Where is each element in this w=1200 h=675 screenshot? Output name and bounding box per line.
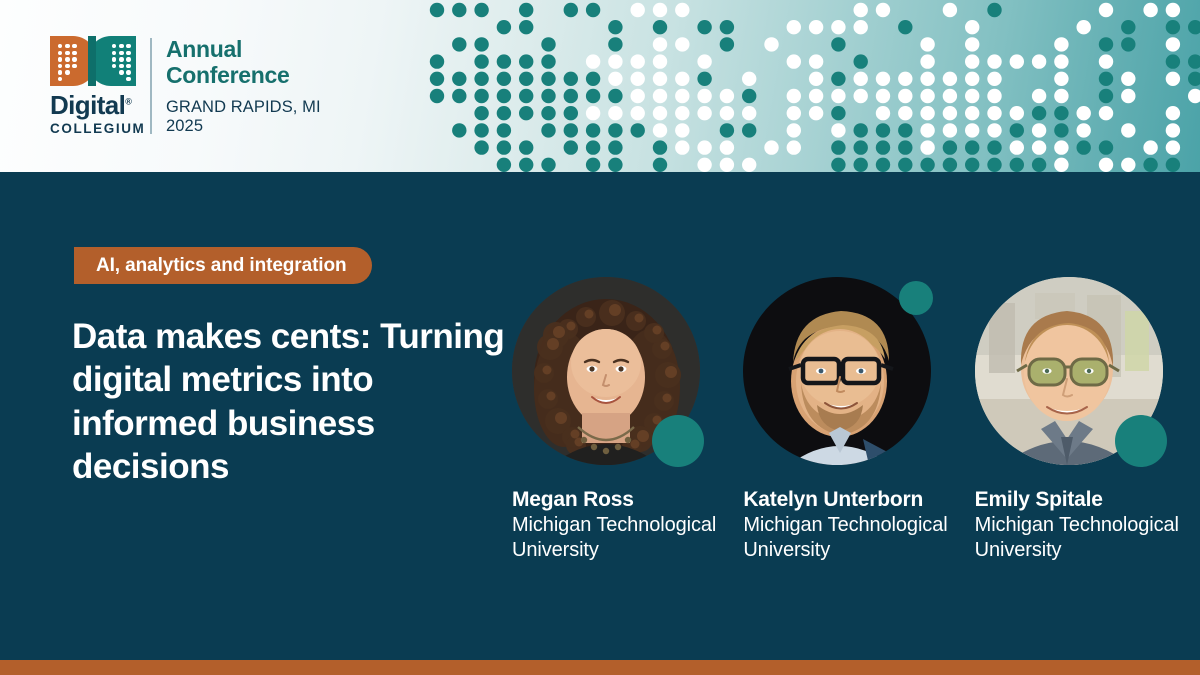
decorative-dot — [920, 123, 934, 137]
decorative-dot — [497, 106, 511, 120]
decorative-dot — [631, 106, 645, 120]
decorative-dot — [452, 123, 466, 137]
decorative-dot — [1010, 54, 1024, 68]
decorative-dot — [497, 140, 511, 154]
decorative-dot — [519, 140, 533, 154]
digital-collegium-logo-mark-icon — [50, 36, 136, 86]
accent-circle-icon — [1115, 415, 1167, 467]
speaker-organization: Michigan Technological University — [512, 513, 729, 562]
decorative-dot — [854, 20, 868, 34]
decorative-dot — [541, 72, 555, 86]
conference-title: Annual Conference — [166, 37, 321, 89]
decorative-dot — [1032, 89, 1046, 103]
decorative-dot — [541, 158, 555, 172]
decorative-dot — [720, 89, 734, 103]
speaker-card: Katelyn UnterbornMichigan Technological … — [743, 277, 960, 647]
decorative-dot — [854, 89, 868, 103]
decorative-dot — [831, 123, 845, 137]
decorative-dot — [1010, 140, 1024, 154]
accent-circle-icon — [899, 281, 933, 315]
decorative-dot — [452, 89, 466, 103]
decorative-dot — [631, 3, 645, 17]
decorative-dot — [1010, 158, 1024, 172]
logo-dot — [58, 44, 62, 48]
decorative-dot — [1032, 158, 1046, 172]
decorative-dot — [497, 123, 511, 137]
conference-info: Annual Conference GRAND RAPIDS, MI 2025 — [166, 36, 321, 136]
logo-dot — [126, 70, 130, 74]
speaker-card: Megan RossMichigan Technological Univers… — [512, 277, 729, 647]
decorative-dot — [631, 72, 645, 86]
decorative-dot — [497, 72, 511, 86]
decorative-dot — [697, 72, 711, 86]
footer-accent-bar — [0, 660, 1200, 675]
decorative-dot — [519, 89, 533, 103]
logo-dot — [119, 51, 123, 55]
decorative-dot — [943, 158, 957, 172]
decorative-dot — [898, 140, 912, 154]
accent-circle-icon — [652, 415, 704, 467]
decorative-dot — [519, 72, 533, 86]
decorative-dot — [876, 106, 890, 120]
logo-dot — [58, 64, 62, 68]
decorative-dot — [653, 37, 667, 51]
decorative-dot — [831, 37, 845, 51]
decorative-dot — [920, 158, 934, 172]
decorative-dot — [474, 89, 488, 103]
decorative-dot — [742, 72, 756, 86]
decorative-dot — [1099, 140, 1113, 154]
decorative-dot — [831, 89, 845, 103]
decorative-dot — [608, 20, 622, 34]
decorative-dot — [519, 106, 533, 120]
logo-dot — [58, 51, 62, 55]
decorative-dot — [987, 54, 1001, 68]
decorative-dot — [1166, 3, 1180, 17]
decorative-dot — [608, 89, 622, 103]
decorative-dot — [430, 89, 444, 103]
conference-title-line-1: Annual — [166, 37, 321, 63]
logo-dot — [65, 64, 69, 68]
decorative-dot — [720, 20, 734, 34]
decorative-dot — [943, 140, 957, 154]
speaker-card: Emily SpitaleMichigan Technological Univ… — [975, 277, 1192, 647]
logo-dot — [72, 51, 76, 55]
decorative-dot — [608, 158, 622, 172]
decorative-dot — [564, 3, 578, 17]
logo-dot — [65, 51, 69, 55]
decorative-dot — [541, 89, 555, 103]
decorative-dot — [720, 37, 734, 51]
decorative-dot — [898, 106, 912, 120]
brand-logo-block: Digital® COLLEGIUM Annual Conference GRA… — [50, 36, 321, 136]
decorative-dot — [764, 140, 778, 154]
logo-dot — [112, 51, 116, 55]
decorative-dot — [653, 20, 667, 34]
decorative-dot — [608, 123, 622, 137]
decorative-dot — [787, 106, 801, 120]
logo-dot — [65, 70, 69, 74]
decorative-dot — [943, 72, 957, 86]
logo-wordmark: Digital® — [50, 92, 136, 118]
decorative-dot — [987, 72, 1001, 86]
decorative-dot — [586, 54, 600, 68]
decorative-dot — [1188, 89, 1200, 103]
decorative-dot — [1166, 140, 1180, 154]
decorative-dot — [675, 123, 689, 137]
logo-dot — [119, 64, 123, 68]
decorative-dot — [898, 72, 912, 86]
decorative-dot — [943, 89, 957, 103]
decorative-dot — [1143, 158, 1157, 172]
decorative-dot — [586, 106, 600, 120]
decorative-dot — [564, 89, 578, 103]
logo-left-column: Digital® COLLEGIUM — [50, 36, 136, 136]
decorative-dot — [1188, 20, 1200, 34]
decorative-dot — [720, 140, 734, 154]
decorative-dot — [831, 20, 845, 34]
decorative-dot — [631, 123, 645, 137]
speaker-name: Megan Ross — [512, 487, 729, 512]
decorative-dot — [675, 3, 689, 17]
decorative-dot — [1077, 140, 1091, 154]
decorative-dot — [631, 89, 645, 103]
decorative-dot — [653, 54, 667, 68]
decorative-dot — [987, 140, 1001, 154]
decorative-dot — [430, 72, 444, 86]
decorative-dot — [1188, 54, 1200, 68]
decorative-dot — [920, 72, 934, 86]
session-title: Data makes cents: Turning digital metric… — [72, 315, 512, 489]
decorative-dot — [608, 72, 622, 86]
logo-dot — [119, 70, 123, 74]
decorative-dot — [1143, 140, 1157, 154]
logo-dot — [119, 44, 123, 48]
decorative-dot — [965, 158, 979, 172]
decorative-dot — [965, 89, 979, 103]
decorative-dot — [831, 158, 845, 172]
logo-dot — [119, 57, 123, 61]
registered-trademark-icon: ® — [125, 96, 131, 106]
logo-divider — [150, 38, 152, 134]
decorative-dot — [987, 158, 1001, 172]
decorative-dot — [519, 54, 533, 68]
conference-location-line-2: 2025 — [166, 117, 321, 136]
decorative-dot — [1032, 140, 1046, 154]
speaker-photo-wrapper — [975, 277, 1163, 465]
decorative-dot — [965, 20, 979, 34]
decorative-dot — [675, 37, 689, 51]
decorative-dot — [1032, 54, 1046, 68]
decorative-dot — [809, 54, 823, 68]
decorative-dot — [854, 140, 868, 154]
decorative-dot — [1099, 3, 1113, 17]
decorative-dot — [519, 158, 533, 172]
decorative-dot — [631, 54, 645, 68]
decorative-dot — [720, 106, 734, 120]
decorative-dot — [675, 72, 689, 86]
logo-dot — [126, 44, 130, 48]
decorative-dot — [1054, 140, 1068, 154]
decorative-dot — [787, 89, 801, 103]
decorative-dot — [1054, 123, 1068, 137]
decorative-dot — [1010, 123, 1024, 137]
decorative-dot — [809, 20, 823, 34]
decorative-dot — [1099, 106, 1113, 120]
decorative-dot — [474, 106, 488, 120]
decorative-dot — [809, 89, 823, 103]
decorative-dot — [452, 72, 466, 86]
decorative-dot — [452, 37, 466, 51]
decorative-dot — [497, 89, 511, 103]
decorative-dot — [809, 72, 823, 86]
decorative-dot — [1166, 54, 1180, 68]
logo-dot — [72, 64, 76, 68]
decorative-dot — [742, 158, 756, 172]
decorative-dot — [675, 106, 689, 120]
speaker-name: Emily Spitale — [975, 487, 1192, 512]
logo-subtext: COLLEGIUM — [50, 122, 136, 136]
logo-dot — [112, 64, 116, 68]
decorative-dot — [787, 54, 801, 68]
decorative-dot — [1121, 89, 1135, 103]
decorative-dot — [675, 140, 689, 154]
decorative-dot — [653, 72, 667, 86]
decorative-dot — [474, 72, 488, 86]
conference-location-line-1: GRAND RAPIDS, MI — [166, 98, 321, 117]
logo-dot — [72, 57, 76, 61]
decorative-dot — [497, 20, 511, 34]
decorative-dot — [965, 106, 979, 120]
decorative-dot — [876, 72, 890, 86]
decorative-dot — [876, 89, 890, 103]
decorative-dot — [564, 140, 578, 154]
decorative-dot — [564, 106, 578, 120]
logo-dot — [58, 57, 62, 61]
decorative-dot — [831, 72, 845, 86]
decorative-dot — [653, 106, 667, 120]
decorative-dot — [1121, 20, 1135, 34]
decorative-dot — [854, 72, 868, 86]
decorative-dot — [876, 140, 890, 154]
speaker-list: Megan RossMichigan Technological Univers… — [512, 277, 1192, 647]
decorative-dot — [430, 54, 444, 68]
decorative-dot — [586, 140, 600, 154]
decorative-dot — [697, 106, 711, 120]
decorative-dot — [1121, 158, 1135, 172]
decorative-dot — [653, 140, 667, 154]
decorative-dot — [965, 123, 979, 137]
decorative-dot — [920, 106, 934, 120]
decorative-dot — [787, 123, 801, 137]
decorative-dot — [474, 140, 488, 154]
logo-dot — [126, 77, 130, 81]
logo-dot — [126, 51, 130, 55]
decorative-dot — [653, 3, 667, 17]
decorative-dot — [497, 54, 511, 68]
logo-dot — [112, 57, 116, 61]
decorative-dot — [854, 54, 868, 68]
decorative-dot — [965, 54, 979, 68]
decorative-dot — [586, 123, 600, 137]
conference-location: GRAND RAPIDS, MI 2025 — [166, 98, 321, 136]
logo-dot — [72, 44, 76, 48]
decorative-dot — [1032, 123, 1046, 137]
decorative-dot — [1121, 123, 1135, 137]
decorative-dot — [1054, 72, 1068, 86]
decorative-dot — [608, 106, 622, 120]
decorative-dot — [1054, 158, 1068, 172]
decorative-dot — [987, 89, 1001, 103]
conference-title-line-2: Conference — [166, 63, 321, 89]
speaker-organization: Michigan Technological University — [743, 513, 960, 562]
decorative-dot — [898, 158, 912, 172]
decorative-dot — [653, 158, 667, 172]
decorative-dot — [1054, 106, 1068, 120]
decorative-dot — [1188, 72, 1200, 86]
decorative-dot — [1054, 54, 1068, 68]
decorative-dot — [608, 54, 622, 68]
decorative-dot — [675, 89, 689, 103]
decorative-dot — [1099, 72, 1113, 86]
decorative-dot — [1166, 20, 1180, 34]
decorative-dot — [876, 158, 890, 172]
decorative-dot — [586, 158, 600, 172]
logo-dot — [126, 57, 130, 61]
decorative-dot — [965, 140, 979, 154]
decorative-dot — [1166, 158, 1180, 172]
decorative-dot — [1054, 37, 1068, 51]
decorative-dot — [898, 89, 912, 103]
decorative-dot — [653, 123, 667, 137]
decorative-dot — [1010, 106, 1024, 120]
decorative-dot — [1054, 89, 1068, 103]
decorative-dot — [965, 37, 979, 51]
decorative-dot — [898, 123, 912, 137]
speaker-name: Katelyn Unterborn — [743, 487, 960, 512]
decorative-dot — [697, 54, 711, 68]
slide-header: Digital® COLLEGIUM Annual Conference GRA… — [0, 0, 1200, 172]
logo-dot — [58, 77, 62, 81]
decorative-dot — [920, 89, 934, 103]
decorative-dot — [898, 20, 912, 34]
decorative-dot — [541, 123, 555, 137]
decorative-dot — [854, 158, 868, 172]
logo-wordmark-text: Digital — [50, 90, 125, 120]
decorative-dot — [1032, 106, 1046, 120]
logo-dot-pattern — [50, 36, 136, 86]
decorative-dot — [787, 140, 801, 154]
decorative-dot — [1143, 3, 1157, 17]
decorative-dot — [1099, 37, 1113, 51]
decorative-dot — [1099, 158, 1113, 172]
decorative-dot — [965, 72, 979, 86]
decorative-dot — [809, 106, 823, 120]
decorative-dot — [564, 72, 578, 86]
decorative-dot — [474, 123, 488, 137]
decorative-dot — [430, 3, 444, 17]
speaker-photo-wrapper — [512, 277, 700, 465]
decorative-dot — [586, 89, 600, 103]
logo-dot — [126, 64, 130, 68]
decorative-dot — [1099, 54, 1113, 68]
decorative-dot — [564, 123, 578, 137]
decorative-dot — [697, 89, 711, 103]
decorative-dot — [697, 158, 711, 172]
decorative-dot — [497, 158, 511, 172]
decorative-dot — [987, 123, 1001, 137]
decorative-dot — [742, 123, 756, 137]
decorative-dot — [586, 3, 600, 17]
logo-dot — [65, 44, 69, 48]
decorative-dot — [541, 37, 555, 51]
decorative-dot — [474, 37, 488, 51]
decorative-dot — [876, 123, 890, 137]
speaker-photo-wrapper — [743, 277, 931, 465]
decorative-dot — [831, 140, 845, 154]
decorative-dot — [720, 123, 734, 137]
decorative-dot — [854, 3, 868, 17]
speaker-organization: Michigan Technological University — [975, 513, 1192, 562]
slide-body: AI, analytics and integration Data makes… — [0, 172, 1200, 660]
decorative-dot — [1121, 37, 1135, 51]
decorative-dot — [1077, 20, 1091, 34]
decorative-dot — [876, 3, 890, 17]
decorative-dot — [1077, 123, 1091, 137]
decorative-dot — [1077, 106, 1091, 120]
decorative-dot — [653, 89, 667, 103]
decorative-dot — [1166, 37, 1180, 51]
decorative-dot — [831, 106, 845, 120]
decorative-dot — [697, 20, 711, 34]
decorative-dot — [943, 123, 957, 137]
decorative-dot — [1166, 123, 1180, 137]
decorative-dot — [764, 37, 778, 51]
topic-tag-badge: AI, analytics and integration — [74, 247, 372, 284]
decorative-dot — [697, 140, 711, 154]
decorative-dot — [742, 106, 756, 120]
decorative-dot — [519, 20, 533, 34]
decorative-dot — [920, 54, 934, 68]
decorative-dot — [474, 3, 488, 17]
decorative-dot — [1166, 72, 1180, 86]
decorative-dot — [1121, 72, 1135, 86]
decorative-dot — [920, 37, 934, 51]
decorative-dot — [787, 20, 801, 34]
decorative-dot — [742, 89, 756, 103]
decorative-dot — [1166, 106, 1180, 120]
decorative-dot — [1099, 89, 1113, 103]
decorative-dot — [519, 3, 533, 17]
logo-dot — [112, 44, 116, 48]
decorative-dot — [987, 106, 1001, 120]
decorative-dot — [452, 3, 466, 17]
logo-dot — [65, 57, 69, 61]
decorative-dot — [854, 123, 868, 137]
decorative-dot — [474, 54, 488, 68]
decorative-dot — [943, 3, 957, 17]
decorative-dot — [608, 37, 622, 51]
decorative-dot — [943, 106, 957, 120]
decorative-dot — [586, 72, 600, 86]
decorative-dot — [920, 140, 934, 154]
decorative-dot — [720, 158, 734, 172]
decorative-dot — [541, 106, 555, 120]
decorative-dot — [987, 3, 1001, 17]
decorative-dot — [608, 140, 622, 154]
decorative-dot — [541, 54, 555, 68]
logo-dot — [58, 70, 62, 74]
